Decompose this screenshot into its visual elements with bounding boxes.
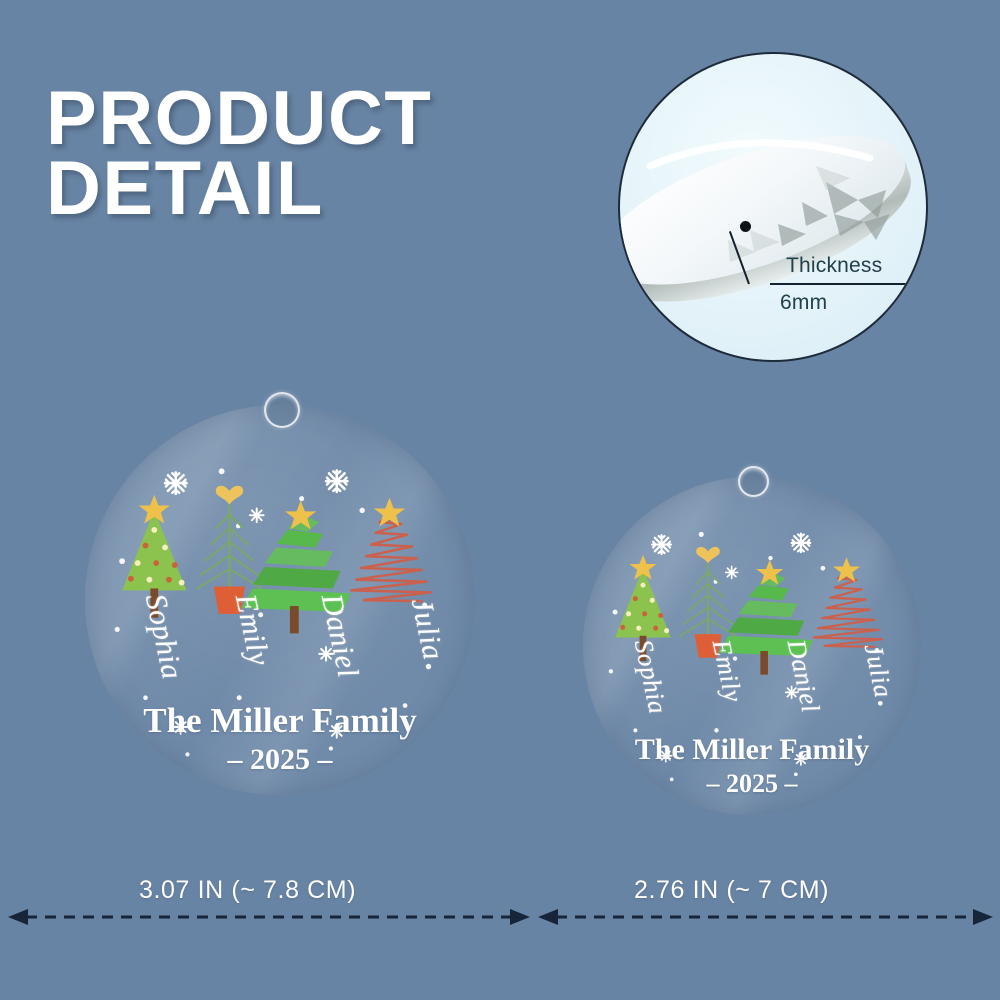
- ornament-artwork: [85, 405, 475, 795]
- name-label-julia: Julia: [858, 641, 899, 701]
- ornament-face: Sophia Emily Daniel Julia The Miller Fam…: [583, 477, 921, 815]
- thickness-callout: Thickness 6mm: [618, 52, 928, 362]
- name-label-daniel: Daniel: [314, 591, 365, 681]
- page-title: PRODUCT DETAIL: [46, 84, 432, 224]
- dimension-arrows: [0, 900, 1000, 946]
- thickness-marker-dot: [740, 221, 751, 232]
- name-label-emily: Emily: [706, 637, 748, 705]
- ornament-artwork: [583, 477, 921, 815]
- hanging-hole: [264, 392, 300, 428]
- name-label-daniel: Daniel: [781, 637, 826, 715]
- ornament-face: Sophia Emily Daniel Julia The Miller Fam…: [85, 405, 475, 795]
- name-label-julia: Julia: [404, 595, 450, 663]
- page-title-line-2: DETAIL: [46, 154, 432, 224]
- glass-edge-photo: [620, 54, 928, 362]
- family-year-text: – 2025 –: [85, 743, 475, 777]
- thickness-label: Thickness: [786, 254, 882, 278]
- thickness-leader-line: [770, 283, 920, 285]
- page-title-line-1: PRODUCT: [46, 84, 432, 154]
- hanging-hole: [738, 466, 769, 497]
- name-label-sophia: Sophia: [628, 637, 673, 717]
- ornament-large: Sophia Emily Daniel Julia The Miller Fam…: [42, 362, 518, 838]
- family-name-text: The Miller Family: [85, 701, 475, 741]
- family-name-text: The Miller Family: [583, 733, 921, 767]
- ornament-small: Sophia Emily Daniel Julia The Miller Fam…: [546, 440, 958, 852]
- family-year-text: – 2025 –: [583, 769, 921, 799]
- thickness-value: 6mm: [780, 291, 827, 315]
- name-label-emily: Emily: [228, 591, 276, 669]
- name-label-sophia: Sophia: [138, 591, 189, 683]
